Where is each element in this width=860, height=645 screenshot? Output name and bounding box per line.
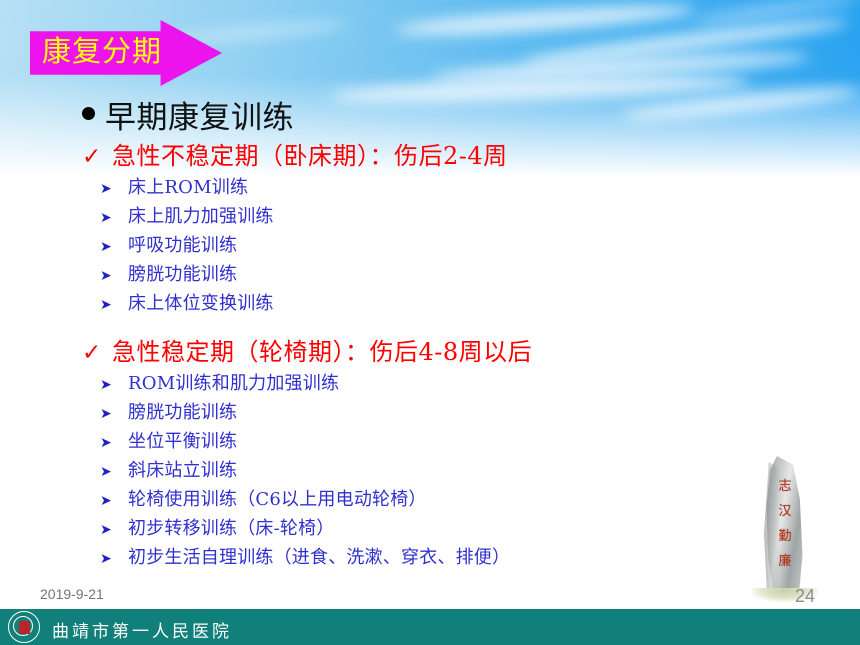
arrow-bullet-icon: ➤ bbox=[100, 407, 128, 421]
hospital-name-label: 曲靖市第一人民医院 bbox=[52, 617, 232, 642]
footer-bar: 曲靖市第一人民医院 bbox=[0, 609, 860, 645]
section-heading-text: 急性稳定期（轮椅期）：伤后4-8周以后 bbox=[112, 332, 532, 367]
list-item-label: 初步转移训练（床-轮椅） bbox=[128, 514, 334, 540]
list-item-label: 轮椅使用训练（C6以上用电动轮椅） bbox=[128, 485, 427, 511]
list-item-label: 呼吸功能训练 bbox=[128, 231, 237, 257]
list-item: ➤ 呼吸功能训练 bbox=[100, 231, 860, 260]
section-heading: ✓ 急性不稳定期（卧床期）：伤后2-4周 bbox=[0, 136, 860, 171]
arrow-bullet-icon: ➤ bbox=[100, 182, 128, 196]
list-item-label: 膀胱功能训练 bbox=[128, 260, 237, 286]
hospital-logo-core bbox=[19, 621, 30, 634]
arrow-bullet-icon: ➤ bbox=[100, 552, 128, 566]
cloud-wisp bbox=[395, 0, 696, 40]
list-item: ➤ ROM训练和肌力加强训练 bbox=[100, 369, 860, 398]
arrow-bullet-icon: ➤ bbox=[100, 211, 128, 225]
section-acute-unstable: ✓ 急性不稳定期（卧床期）：伤后2-4周 ➤ 床上ROM训练 ➤ 床上肌力加强训… bbox=[0, 136, 860, 318]
stone-character: 志 bbox=[778, 474, 791, 499]
arrow-bullet-icon: ➤ bbox=[100, 269, 128, 283]
bullet-dot-icon bbox=[82, 107, 95, 120]
list-item: ➤ 斜床站立训练 bbox=[100, 456, 860, 485]
bullet-list: ➤ ROM训练和肌力加强训练 ➤ 膀胱功能训练 ➤ 坐位平衡训练 ➤ 斜床站立训… bbox=[0, 369, 860, 572]
list-item-label: 坐位平衡训练 bbox=[128, 427, 237, 453]
slide-date: 2019-9-21 bbox=[40, 586, 104, 602]
stone-character: 勤 bbox=[778, 524, 791, 549]
stone-character: 汉 bbox=[778, 499, 791, 524]
list-item-label: 床上体位变换训练 bbox=[128, 289, 274, 315]
content-body: ✓ 急性不稳定期（卧床期）：伤后2-4周 ➤ 床上ROM训练 ➤ 床上肌力加强训… bbox=[0, 136, 860, 572]
arrow-bullet-icon: ➤ bbox=[100, 465, 128, 479]
section-heading-text: 急性不稳定期（卧床期）：伤后2-4周 bbox=[112, 136, 508, 171]
section-spacer bbox=[0, 318, 860, 332]
list-item: ➤ 床上肌力加强训练 bbox=[100, 202, 860, 231]
list-item-label: 初步生活自理训练（进食、洗漱、穿衣、排便） bbox=[128, 543, 510, 569]
check-mark-icon: ✓ bbox=[82, 342, 112, 365]
list-item: ➤ 坐位平衡训练 bbox=[100, 427, 860, 456]
page-title-text: 早期康复训练 bbox=[105, 92, 294, 137]
arrow-bullet-icon: ➤ bbox=[100, 298, 128, 312]
arrow-bullet-icon: ➤ bbox=[100, 494, 128, 508]
list-item-label: 床上肌力加强训练 bbox=[128, 202, 274, 228]
arrow-bullet-icon: ➤ bbox=[100, 436, 128, 450]
page-title: 早期康复训练 bbox=[82, 92, 294, 137]
section-acute-stable: ✓ 急性稳定期（轮椅期）：伤后4-8周以后 ➤ ROM训练和肌力加强训练 ➤ 膀… bbox=[0, 332, 860, 572]
stone-character: 廉 bbox=[778, 549, 791, 574]
section-heading: ✓ 急性稳定期（轮椅期）：伤后4-8周以后 bbox=[0, 332, 860, 367]
arrow-bullet-icon: ➤ bbox=[100, 523, 128, 537]
list-item: ➤ 初步生活自理训练（进食、洗漱、穿衣、排便） bbox=[100, 543, 860, 572]
list-item: ➤ 膀胱功能训练 bbox=[100, 260, 860, 289]
list-item: ➤ 初步转移训练（床-轮椅） bbox=[100, 514, 860, 543]
list-item: ➤ 膀胱功能训练 bbox=[100, 398, 860, 427]
list-item-label: ROM训练和肌力加强训练 bbox=[128, 369, 339, 395]
list-item: ➤ 轮椅使用训练（C6以上用电动轮椅） bbox=[100, 485, 860, 514]
arrow-bullet-icon: ➤ bbox=[100, 378, 128, 392]
list-item-label: 斜床站立训练 bbox=[128, 456, 237, 482]
list-item: ➤ 床上ROM训练 bbox=[100, 173, 860, 202]
list-item: ➤ 床上体位变换训练 bbox=[100, 289, 860, 318]
check-mark-icon: ✓ bbox=[82, 146, 112, 169]
arrow-banner-label: 康复分期 bbox=[42, 28, 192, 76]
list-item-label: 床上ROM训练 bbox=[128, 173, 248, 199]
arrow-bullet-icon: ➤ bbox=[100, 240, 128, 254]
stone-calligraphy: 志 汉 勤 廉 bbox=[776, 474, 794, 574]
slide-canvas: 康复分期 早期康复训练 ✓ 急性不稳定期（卧床期）：伤后2-4周 ➤ 床上ROM… bbox=[0, 0, 860, 645]
bullet-list: ➤ 床上ROM训练 ➤ 床上肌力加强训练 ➤ 呼吸功能训练 ➤ 膀胱功能训练 ➤ bbox=[0, 173, 860, 318]
page-number: 24 bbox=[795, 586, 815, 607]
list-item-label: 膀胱功能训练 bbox=[128, 398, 237, 424]
hospital-logo-icon bbox=[8, 611, 40, 643]
